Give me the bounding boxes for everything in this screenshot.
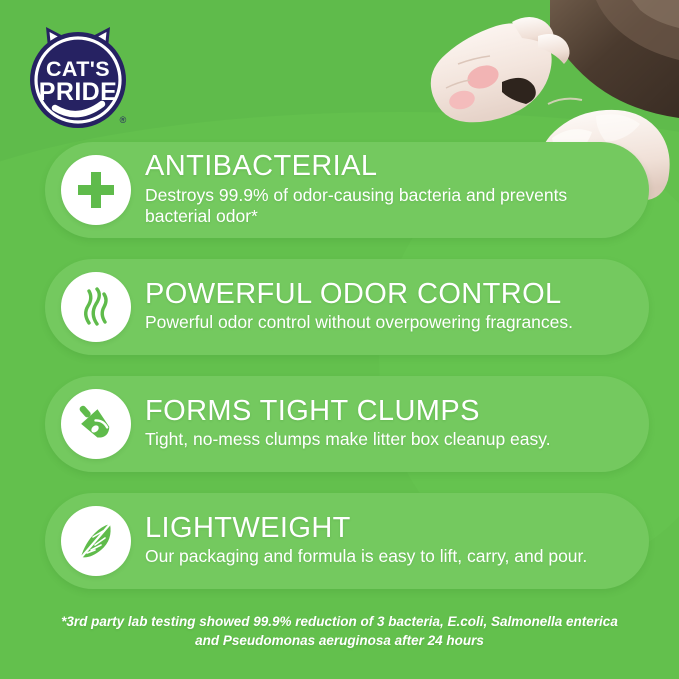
feature-card-tight-clumps[interactable]: FORMS TIGHT CLUMPS Tight, no-mess clumps… [45,376,649,472]
feature-description: Tight, no-mess clumps make litter box cl… [145,429,631,451]
feature-text-odor-control: POWERFUL ODOR CONTROL Powerful odor cont… [145,280,649,334]
product-feature-infographic: CAT'S PRIDE ® [0,0,679,679]
feature-text-antibacterial: ANTIBACTERIAL Destroys 99.9% of odor-cau… [145,152,649,228]
feature-title: ANTIBACTERIAL [145,152,631,182]
feature-text-tight-clumps: FORMS TIGHT CLUMPS Tight, no-mess clumps… [145,397,649,451]
feature-description: Powerful odor control without overpoweri… [145,312,631,334]
feature-text-lightweight: LIGHTWEIGHT Our packaging and formula is… [145,514,649,568]
feature-card-antibacterial[interactable]: ANTIBACTERIAL Destroys 99.9% of odor-cau… [45,142,649,238]
legal-footnote: *3rd party lab testing showed 99.9% redu… [0,612,679,651]
litter-scoop-icon [61,389,131,459]
feature-card-odor-control[interactable]: POWERFUL ODOR CONTROL Powerful odor cont… [45,259,649,355]
feature-card-lightweight[interactable]: LIGHTWEIGHT Our packaging and formula is… [45,493,649,589]
feature-card-list: ANTIBACTERIAL Destroys 99.9% of odor-cau… [45,142,649,610]
feature-title: POWERFUL ODOR CONTROL [145,280,631,310]
logo-text-pride: PRIDE [39,78,117,106]
medical-cross-icon [61,155,131,225]
feature-description: Destroys 99.9% of odor-causing bacteria … [145,185,631,228]
cats-pride-logo: CAT'S PRIDE ® [22,18,134,132]
feature-title: LIGHTWEIGHT [145,514,631,544]
feather-icon [61,506,131,576]
registered-trademark-mark: ® [120,115,127,125]
odor-waves-icon [61,272,131,342]
feature-description: Our packaging and formula is easy to lif… [145,546,631,568]
feature-title: FORMS TIGHT CLUMPS [145,397,631,427]
